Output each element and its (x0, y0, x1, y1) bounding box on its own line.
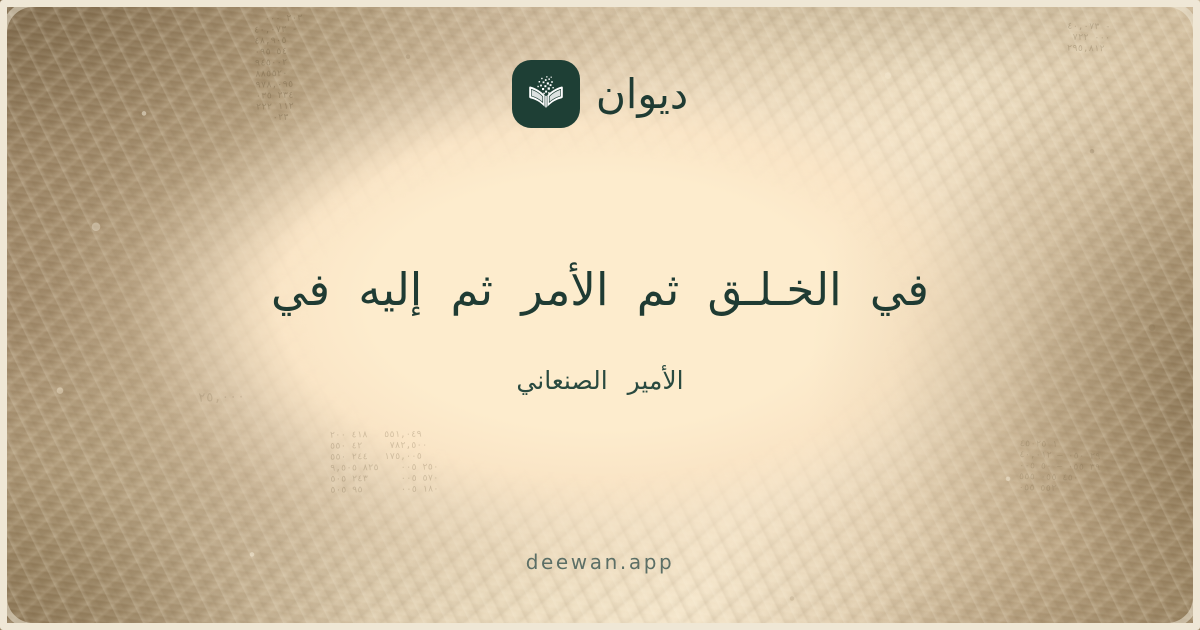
card-content: ديوان في الخـلـق ثم الأمر ثم إليه في الأ… (0, 0, 1200, 630)
poem-author: الأمير الصنعاني (516, 366, 683, 395)
poem-block: في الخـلـق ثم الأمر ثم إليه في الأمير ال… (0, 102, 1200, 550)
poem-verse: في الخـلـق ثم الأمر ثم إليه في (271, 257, 929, 322)
site-url: deewan.app (526, 550, 675, 574)
social-share-card: ٢٠٣ ٠٠٠ ٤٠,٠٧٣ - ٤٨,٩٠٥ ٥٤ ٠٩٥ ٩٤٥٠٠٢ ٨٨… (0, 0, 1200, 630)
